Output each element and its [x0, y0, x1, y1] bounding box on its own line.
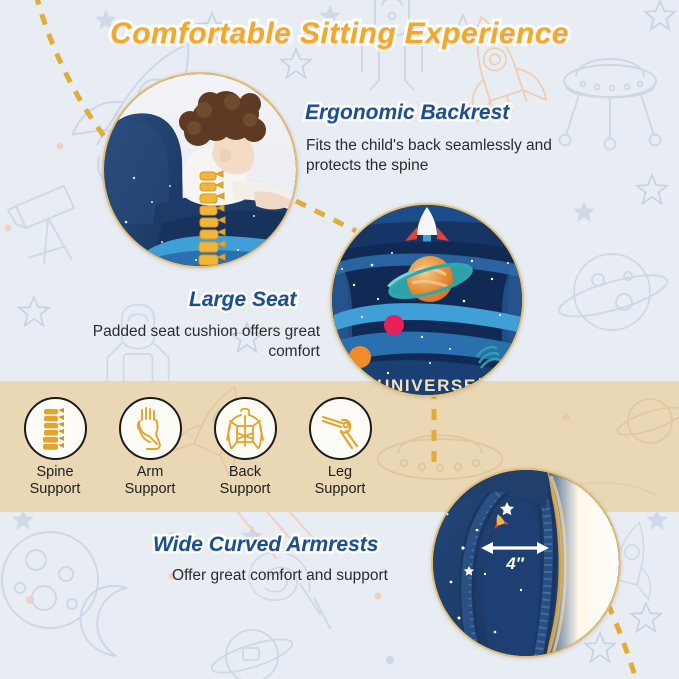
spine-icon-circle — [24, 397, 87, 460]
support-label-line1: Spine — [7, 464, 103, 481]
support-item-back[interactable]: Back Support — [197, 397, 293, 498]
support-item-spine[interactable]: Spine Support — [7, 397, 103, 498]
leg-icon-circle — [309, 397, 372, 460]
back-icon — [224, 406, 266, 452]
leg-icon — [318, 407, 362, 451]
page-title: Comfortable Sitting Experience — [0, 17, 679, 51]
support-label-line2: Support — [292, 481, 388, 498]
child-sitting-on-chair-photo — [102, 72, 298, 268]
large-seat-body: Padded seat cushion offers great comfort — [60, 322, 320, 362]
support-label-line1: Leg — [292, 464, 388, 481]
spine-icon — [35, 406, 75, 452]
support-label-arm: Arm Support — [102, 464, 198, 498]
back-icon-circle — [214, 397, 277, 460]
large-seat-heading: Large Seat — [189, 288, 296, 312]
infographic-page: Comfortable Sitting Experience — [0, 0, 679, 679]
arm-icon — [129, 406, 171, 452]
wide-curved-armrests-heading: Wide Curved Armrests — [153, 533, 378, 557]
support-label-leg: Leg Support — [292, 464, 388, 498]
arm-icon-circle — [119, 397, 182, 460]
seat-cushion-photo: UNIVERSE — [330, 203, 524, 397]
support-label-line1: Back — [197, 464, 293, 481]
armrest-photo: 4″ — [431, 468, 621, 658]
support-item-arm[interactable]: Arm Support — [102, 397, 198, 498]
support-label-back: Back Support — [197, 464, 293, 498]
measurement-label: 4″ — [505, 554, 524, 573]
support-label-line1: Arm — [102, 464, 198, 481]
wide-curved-armrests-body: Offer great comfort and support — [120, 566, 440, 586]
support-item-leg[interactable]: Leg Support — [292, 397, 388, 498]
support-label-line2: Support — [197, 481, 293, 498]
support-label-line2: Support — [102, 481, 198, 498]
support-label-line2: Support — [7, 481, 103, 498]
ergonomic-backrest-heading: Ergonomic Backrest — [305, 101, 509, 125]
support-label-spine: Spine Support — [7, 464, 103, 498]
ergonomic-backrest-body: Fits the child's back seamlessly and pro… — [306, 136, 596, 176]
